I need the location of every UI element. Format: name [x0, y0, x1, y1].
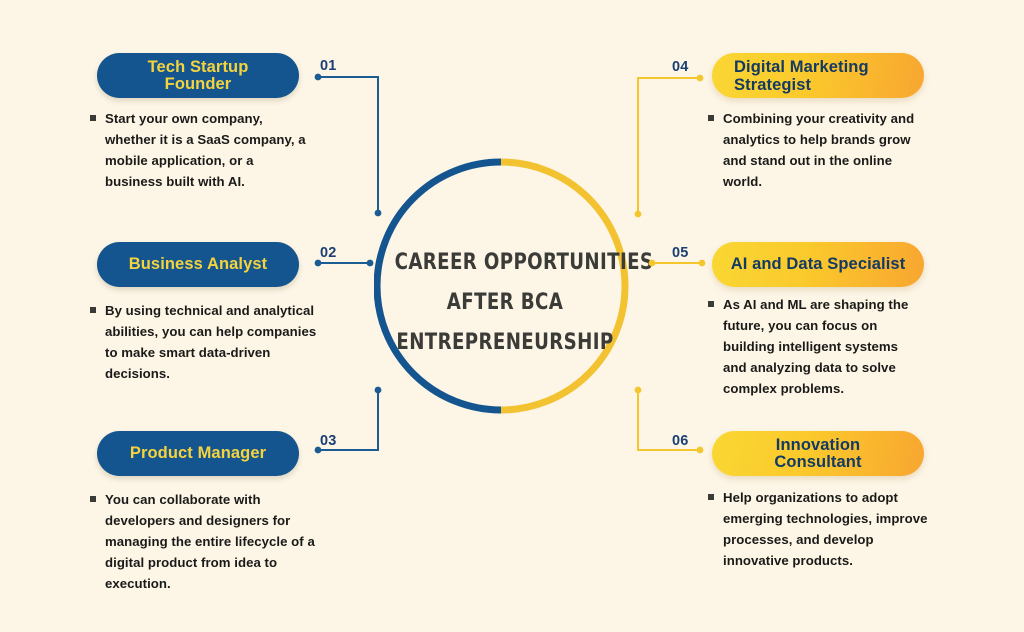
item-description-02: By using technical and analytical abilit…	[90, 300, 322, 384]
bullet-square-icon	[90, 115, 96, 121]
item-title-text-01: Tech Startup Founder	[115, 59, 281, 93]
center-title-line-2: AFTER BCA	[395, 283, 616, 323]
step-number-05: 05	[672, 245, 689, 261]
center-title: CAREER OPPORTUNITIES AFTER BCA ENTREPREN…	[395, 243, 616, 363]
step-number-04: 04	[672, 59, 689, 75]
item-description-03: You can collaborate with developers and …	[90, 489, 315, 594]
center-title-line-3: ENTREPRENEURSHIP	[395, 323, 616, 363]
item-description-text-02: By using technical and analytical abilit…	[105, 300, 322, 384]
step-number-02: 02	[320, 245, 337, 261]
item-description-04: Combining your creativity and analytics …	[708, 108, 918, 192]
item-description-text-03: You can collaborate with developers and …	[105, 489, 315, 594]
item-title-text-02: Business Analyst	[129, 256, 268, 273]
item-description-text-06: Help organizations to adopt emerging tec…	[723, 487, 930, 571]
step-number-06: 06	[672, 433, 689, 449]
item-title-pill-02[interactable]: Business Analyst	[97, 242, 299, 287]
item-title-pill-05[interactable]: AI and Data Specialist	[712, 242, 924, 287]
bullet-square-icon	[708, 494, 714, 500]
bullet-square-icon	[708, 301, 714, 307]
item-title-pill-06[interactable]: Innovation Consultant	[712, 431, 924, 476]
item-description-text-04: Combining your creativity and analytics …	[723, 108, 918, 192]
step-number-01: 01	[320, 58, 337, 74]
item-description-06: Help organizations to adopt emerging tec…	[708, 487, 930, 571]
item-description-text-01: Start your own company, whether it is a …	[105, 108, 308, 192]
connector-line-06	[630, 383, 710, 463]
bullet-square-icon	[708, 115, 714, 121]
item-title-pill-03[interactable]: Product Manager	[97, 431, 299, 476]
step-number-03: 03	[320, 433, 337, 449]
item-title-text-06: Innovation Consultant	[730, 437, 906, 471]
item-title-pill-04[interactable]: Digital Marketing Strategist	[712, 53, 924, 98]
center-title-line-1: CAREER OPPORTUNITIES	[395, 243, 616, 283]
item-description-text-05: As AI and ML are shaping the future, you…	[723, 294, 920, 399]
item-title-text-05: AI and Data Specialist	[731, 256, 906, 273]
item-title-pill-01[interactable]: Tech Startup Founder	[97, 53, 299, 98]
bullet-square-icon	[90, 307, 96, 313]
item-description-01: Start your own company, whether it is a …	[90, 108, 308, 192]
item-title-text-04: Digital Marketing Strategist	[734, 58, 906, 94]
infographic-canvas: CAREER OPPORTUNITIES AFTER BCA ENTREPREN…	[0, 0, 1024, 632]
connector-line-04	[630, 71, 710, 226]
item-title-text-03: Product Manager	[130, 445, 266, 462]
bullet-square-icon	[90, 496, 96, 502]
item-description-05: As AI and ML are shaping the future, you…	[708, 294, 920, 399]
